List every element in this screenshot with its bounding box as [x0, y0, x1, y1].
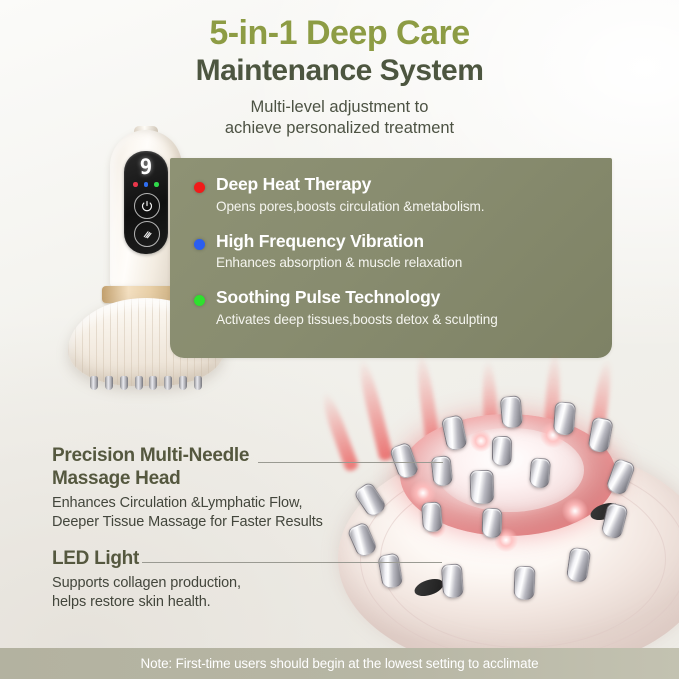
page-title-main: 5-in-1 Deep Care: [0, 14, 679, 52]
massage-nub: [481, 508, 502, 539]
device-control-panel[interactable]: 9: [124, 151, 168, 254]
header-block: 5-in-1 Deep Care Maintenance System Mult…: [0, 14, 679, 140]
feature-item-soothing-pulse-technology: Soothing Pulse Technology Activates deep…: [194, 287, 594, 329]
massage-needle: [90, 376, 98, 390]
massage-head-closeup: [318, 352, 679, 652]
feature-description: Enhances absorption & muscle relaxation: [216, 254, 594, 272]
callout-precision-multi-needle-massage-head: Precision Multi-Needle Massage Head Enha…: [52, 445, 372, 533]
callout-body-line-2: Deeper Tissue Massage for Faster Results: [52, 513, 372, 533]
massage-nub: [469, 470, 494, 505]
feature-title: High Frequency Vibration: [216, 231, 594, 253]
led-indicator-blue: [144, 182, 149, 187]
massage-needle: [120, 376, 128, 390]
massage-needle: [194, 376, 202, 390]
led-indicator-red: [133, 182, 138, 187]
massage-nub: [421, 501, 443, 532]
callout-body-line-2: helps restore skin health.: [52, 593, 372, 613]
feature-description: Activates deep tissues,boosts detox & sc…: [216, 311, 594, 329]
massage-needle: [179, 376, 187, 390]
feature-list: Deep Heat Therapy Opens pores,boosts cir…: [170, 158, 612, 329]
callout-body-line-1: Supports collagen production,: [52, 574, 372, 594]
bullet-dot-green: [194, 295, 205, 306]
led-indicator-green: [154, 182, 159, 187]
massage-needle: [164, 376, 172, 390]
bullet-dot-red: [194, 182, 205, 193]
feature-panel: Deep Heat Therapy Opens pores,boosts cir…: [170, 158, 612, 358]
feature-title: Soothing Pulse Technology: [216, 287, 594, 309]
massage-nub: [492, 436, 512, 466]
infographic-page: 5-in-1 Deep Care Maintenance System Mult…: [0, 0, 679, 679]
device-needle-row: [90, 376, 202, 391]
massage-nub: [529, 457, 551, 488]
massage-needle: [135, 376, 143, 390]
callout-body-line-1: Enhances Circulation &Lymphatic Flow,: [52, 494, 372, 514]
device-led-indicators: [124, 182, 168, 187]
note-text: Note: First-time users should begin at t…: [141, 656, 539, 671]
massage-nub: [587, 416, 614, 453]
tagline-line-1: Multi-level adjustment to: [0, 97, 679, 119]
device-level-display: 9: [124, 157, 168, 178]
feature-item-deep-heat-therapy: Deep Heat Therapy Opens pores,boosts cir…: [194, 174, 594, 216]
led-spark: [562, 498, 588, 524]
massage-nub: [513, 566, 535, 601]
callout-heading-line-1: LED Light: [52, 548, 372, 571]
massage-nub: [553, 401, 576, 435]
massage-nub: [441, 563, 464, 598]
massage-needle: [105, 376, 113, 390]
feature-item-high-frequency-vibration: High Frequency Vibration Enhances absorp…: [194, 231, 594, 273]
pulse-mode-button-icon[interactable]: [134, 221, 160, 247]
led-spark: [470, 430, 492, 452]
massage-nub: [500, 395, 524, 429]
callout-heading-line-1: Precision Multi-Needle: [52, 445, 372, 468]
feature-title: Deep Heat Therapy: [216, 174, 594, 196]
page-title-sub: Maintenance System: [0, 54, 679, 89]
callout-heading-line-2: Massage Head: [52, 468, 372, 491]
feature-description: Opens pores,boosts circulation &metaboli…: [216, 198, 594, 216]
massage-needle: [149, 376, 157, 390]
massage-nub: [430, 455, 453, 487]
callout-led-light: LED Light Supports collagen production, …: [52, 548, 372, 613]
note-bar: Note: First-time users should begin at t…: [0, 648, 679, 679]
bullet-dot-blue: [194, 239, 205, 250]
power-button-icon[interactable]: [134, 193, 160, 219]
